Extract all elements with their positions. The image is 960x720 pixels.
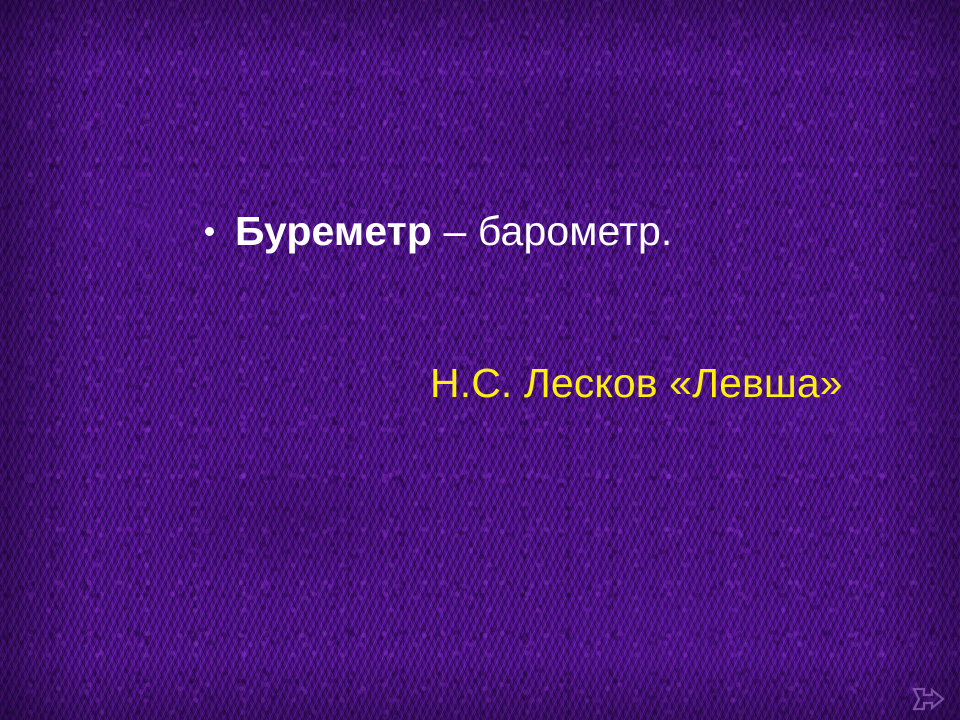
bullet-text: Буреметр – барометр. xyxy=(235,210,672,253)
bullet-marker-icon xyxy=(205,227,214,236)
attribution-text: Н.С. Лесков «Левша» xyxy=(430,362,843,405)
slide-content: Буреметр – барометр. Н.С. Лесков «Левша» xyxy=(0,0,960,720)
bullet-text-bold: Буреметр xyxy=(235,208,432,254)
next-arrow-icon[interactable] xyxy=(910,686,946,712)
presentation-slide: Буреметр – барометр. Н.С. Лесков «Левша» xyxy=(0,0,960,720)
bullet-text-regular: – барометр. xyxy=(432,208,672,254)
bullet-list-item: Буреметр – барометр. xyxy=(205,210,672,253)
